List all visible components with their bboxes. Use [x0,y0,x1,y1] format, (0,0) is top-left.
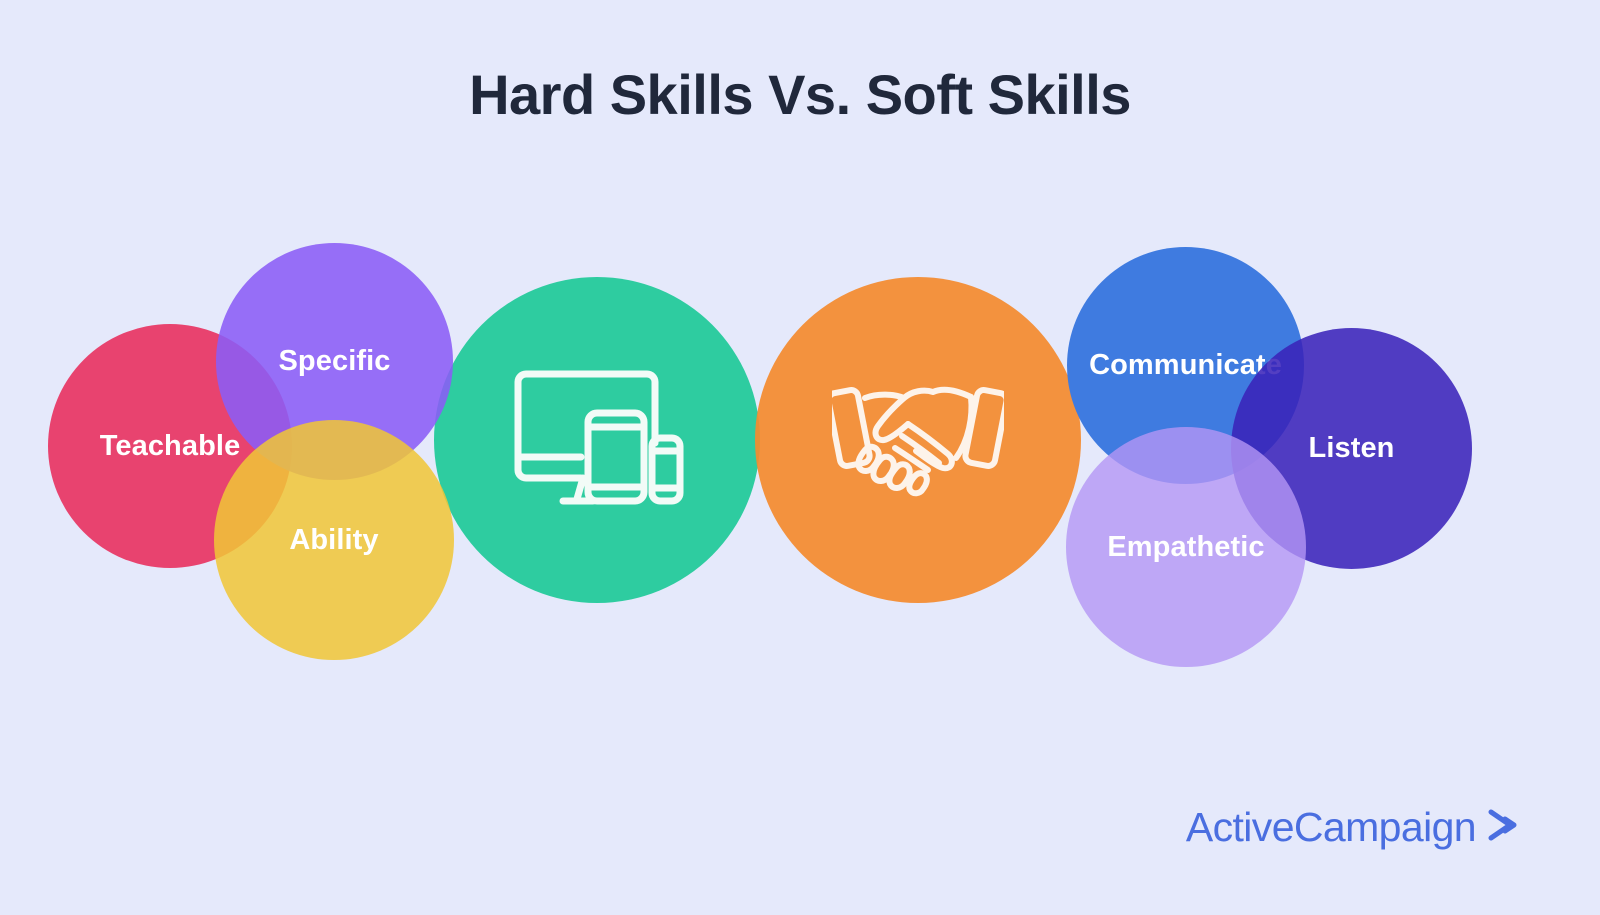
handshake-icon [832,378,1004,503]
circle-ability[interactable]: Ability [214,420,454,660]
infographic-canvas: Hard Skills Vs. Soft Skills Teachable [0,0,1600,915]
circle-hard-skills[interactable] [434,277,760,603]
circle-empathetic[interactable]: Empathetic [1066,427,1306,667]
circle-ability-label: Ability [289,524,378,557]
circle-soft-skills[interactable] [755,277,1081,603]
circle-teachable-label: Teachable [100,430,241,463]
devices-icon [509,365,685,516]
double-chevron-icon [1488,807,1522,848]
venn-diagram: Teachable [0,0,1600,915]
circle-listen-label: Listen [1309,432,1395,465]
activecampaign-logo[interactable]: ActiveCampaign [1186,804,1522,851]
circle-empathetic-label: Empathetic [1107,531,1264,564]
activecampaign-wordmark: ActiveCampaign [1186,804,1476,851]
circle-specific-label: Specific [278,345,390,378]
